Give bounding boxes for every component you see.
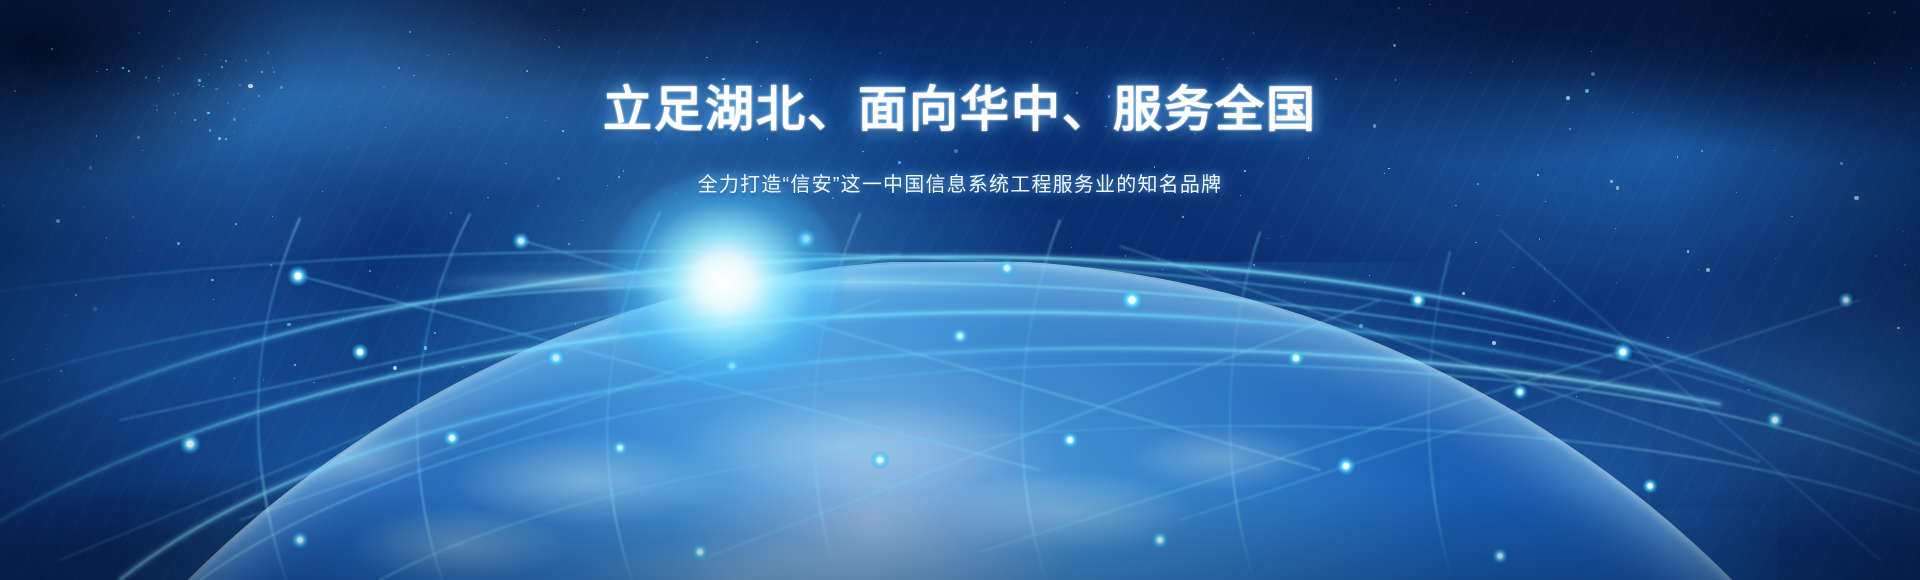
earth-globe	[0, 262, 1920, 580]
globe-container	[0, 262, 1920, 580]
hero-banner: 立足湖北、面向华中、服务全国 全力打造“信安”这一中国信息系统工程服务业的知名品…	[0, 0, 1920, 580]
banner-title: 立足湖北、面向华中、服务全国	[0, 86, 1920, 135]
banner-subtitle: 全力打造“信安”这一中国信息系统工程服务业的知名品牌	[0, 175, 1920, 195]
globe-atmosphere	[0, 262, 1920, 580]
